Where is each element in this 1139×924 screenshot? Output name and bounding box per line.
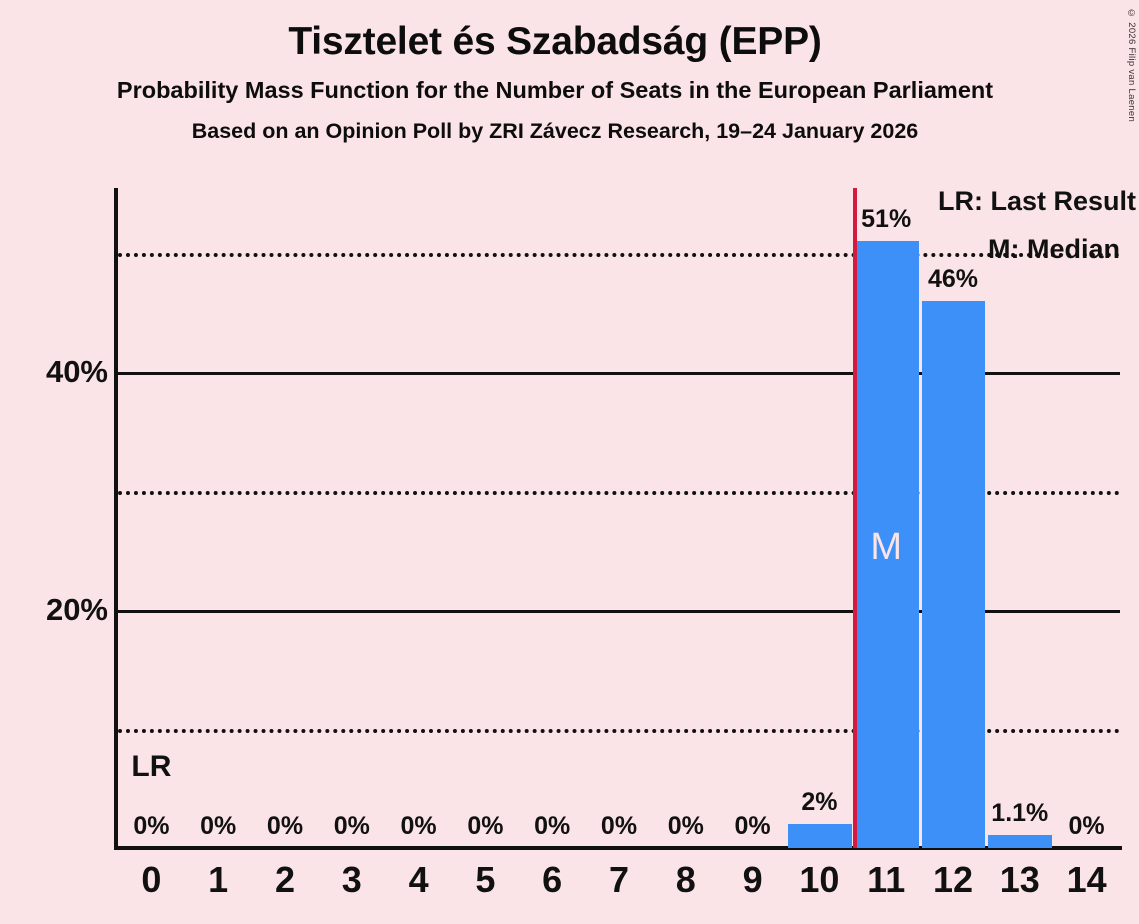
x-tick-label-14: 14	[1037, 862, 1137, 898]
bar-seats-10[interactable]	[788, 824, 852, 848]
legend-last-result: LR: Last Result	[938, 188, 1136, 215]
bar-value-label-11: 51%	[826, 207, 946, 232]
bar-value-label-14: 0%	[1027, 814, 1139, 839]
bar-seats-12[interactable]	[922, 301, 986, 848]
median-line	[853, 188, 857, 848]
bars-layer: 0%00%10%20%30%40%50%60%70%80%92%1051%114…	[0, 0, 1139, 924]
median-marker: M	[853, 528, 920, 566]
bar-value-label-12: 46%	[893, 267, 1013, 292]
last-result-marker: LR	[118, 752, 185, 782]
chart-root: Tisztelet és Szabadság (EPP) Probability…	[0, 0, 1139, 924]
legend-median: M: Median	[988, 236, 1120, 263]
